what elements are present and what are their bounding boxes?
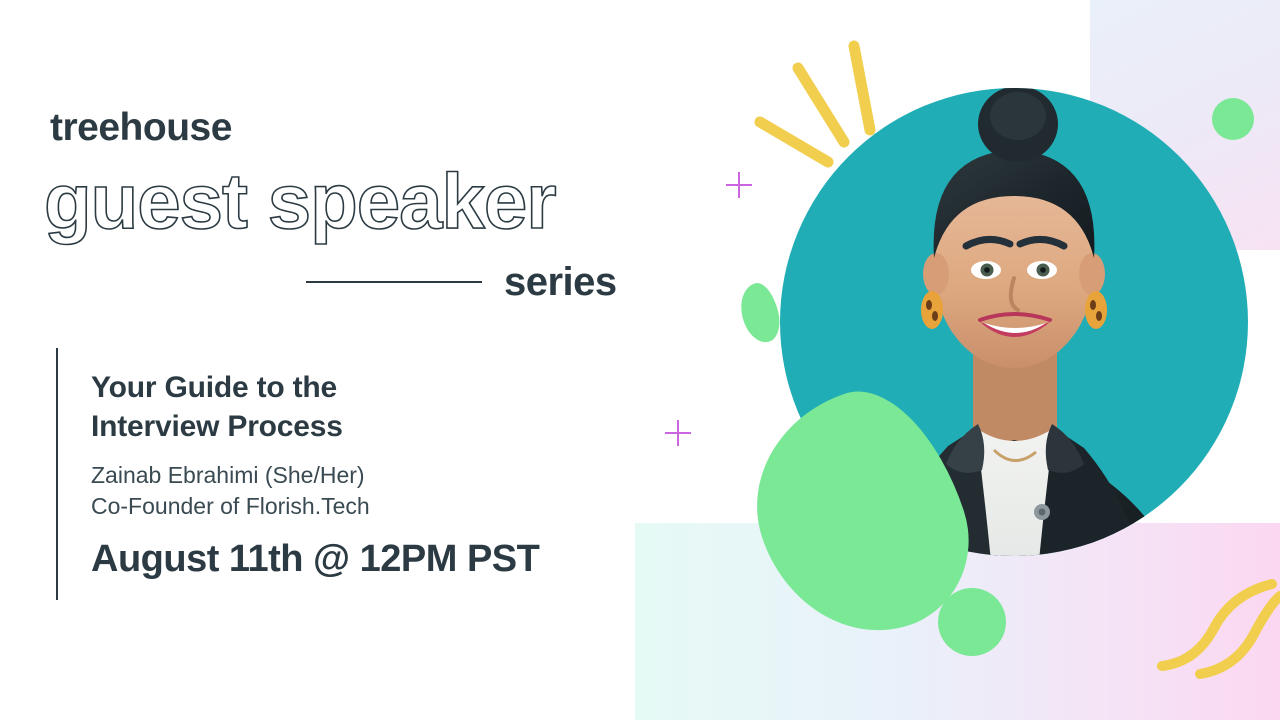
event-details: Your Guide to the Interview Process Zain… (91, 368, 631, 580)
promo-graphic: treehouse guest speaker series Your Guid… (0, 0, 1280, 720)
plus-mark-lower-icon (665, 420, 691, 446)
event-datetime: August 11th @ 12PM PST (91, 539, 631, 581)
treehouse-wordmark: treehouse (50, 108, 232, 147)
speaker-name: Zainab Ebrahimi (She/Her) (91, 460, 631, 491)
sparkle-strokes-icon (740, 30, 920, 190)
speaker-role: Co-Founder of Florish.Tech (91, 491, 631, 522)
text-content-column: treehouse guest speaker series Your Guid… (0, 0, 660, 720)
series-label: series (504, 262, 617, 302)
talk-title: Your Guide to the Interview Process (91, 368, 631, 446)
squiggle-strokes-icon (1140, 570, 1280, 720)
series-row: series (306, 258, 626, 306)
green-blob-small-icon (735, 280, 784, 347)
series-divider-rule (306, 281, 482, 283)
headline-guest-speaker: guest speaker (44, 162, 556, 240)
details-vertical-rule (56, 348, 58, 600)
green-circle-bottom-icon (938, 588, 1006, 656)
